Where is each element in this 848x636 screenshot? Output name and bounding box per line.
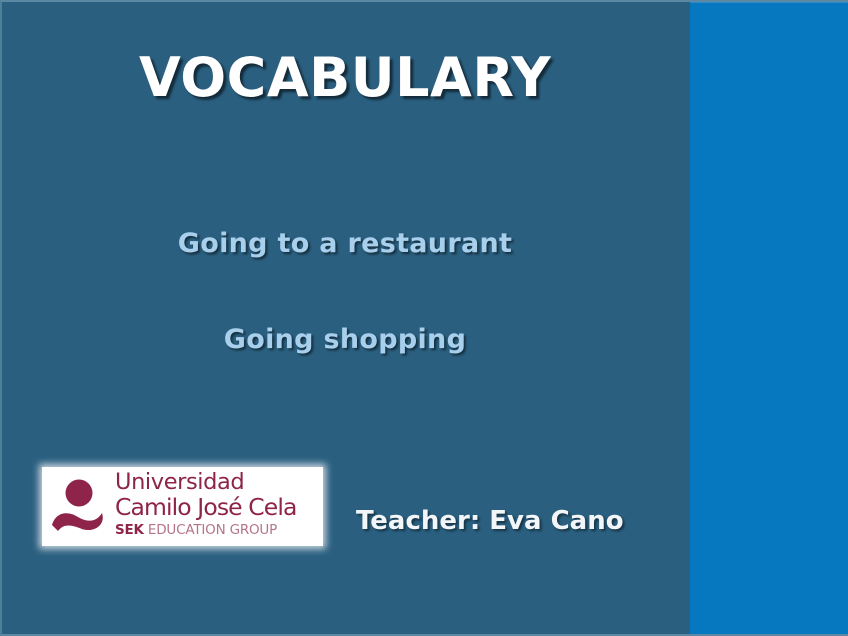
slide-content: VOCABULARY Going to a restaurant Going s… <box>0 0 690 636</box>
logo-tagline: SEK EDUCATION GROUP <box>115 522 323 538</box>
teacher-credit: Teacher: Eva Cano <box>356 506 624 536</box>
accent-band-top-highlight <box>690 0 848 3</box>
slide-subtitle-shopping: Going shopping <box>0 324 690 355</box>
university-logo: Universidad Camilo José Cela SEK EDUCATI… <box>42 467 323 546</box>
logo-line-universidad: Universidad <box>115 470 323 495</box>
logo-tagline-education-group: EDUCATION GROUP <box>144 522 277 538</box>
accent-band-right <box>690 0 848 636</box>
person-wave-icon <box>50 475 112 537</box>
logo-line-camilo-jose-cela: Camilo José Cela <box>115 495 323 520</box>
logo-tagline-sek: SEK <box>115 522 144 538</box>
slide-subtitle-restaurant: Going to a restaurant <box>0 228 690 259</box>
presentation-slide: VOCABULARY Going to a restaurant Going s… <box>0 0 848 636</box>
slide-title: VOCABULARY <box>0 46 690 109</box>
university-logo-text: Universidad Camilo José Cela SEK EDUCATI… <box>115 470 323 538</box>
